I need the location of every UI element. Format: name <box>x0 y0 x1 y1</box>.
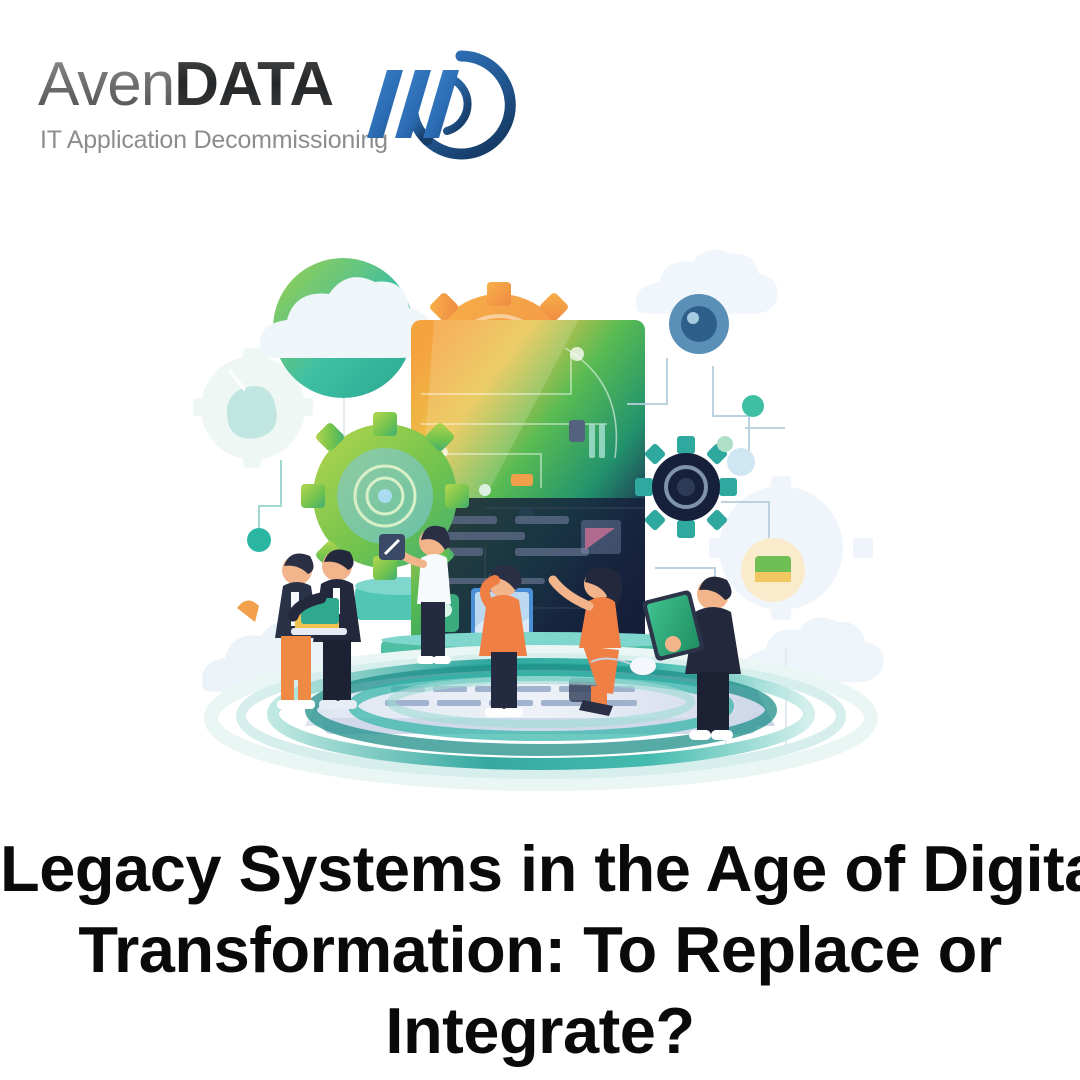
logo-word-bold: DATA <box>174 50 333 119</box>
yellow-badge-icon <box>741 538 805 602</box>
avendata-swoosh-icon <box>343 46 523 164</box>
headline-line-3: Integrate? <box>0 990 1080 1071</box>
headline-line-1: Legacy Systems in the Age of Digital <box>0 828 1080 909</box>
headline-line-2: Transformation: To Replace or <box>0 909 1080 990</box>
connector-dot <box>247 528 271 552</box>
logo-word-light: Aven <box>38 50 174 119</box>
connector-left <box>259 460 281 528</box>
dark-gear-icon <box>635 436 737 538</box>
page-title: Legacy Systems in the Age of Digital Tra… <box>0 828 1080 1071</box>
avendata-logo[interactable]: AvenDATA IT Application Decommissioning <box>38 52 498 162</box>
digital-transformation-illustration <box>185 248 895 793</box>
logo-wordmark: AvenDATA <box>38 52 333 118</box>
circuit-node <box>717 436 733 452</box>
blue-lens-icon <box>669 294 729 354</box>
circuit-node <box>742 395 764 417</box>
circuit-node <box>727 448 755 476</box>
logo-tagline: IT Application Decommissioning <box>40 126 388 155</box>
